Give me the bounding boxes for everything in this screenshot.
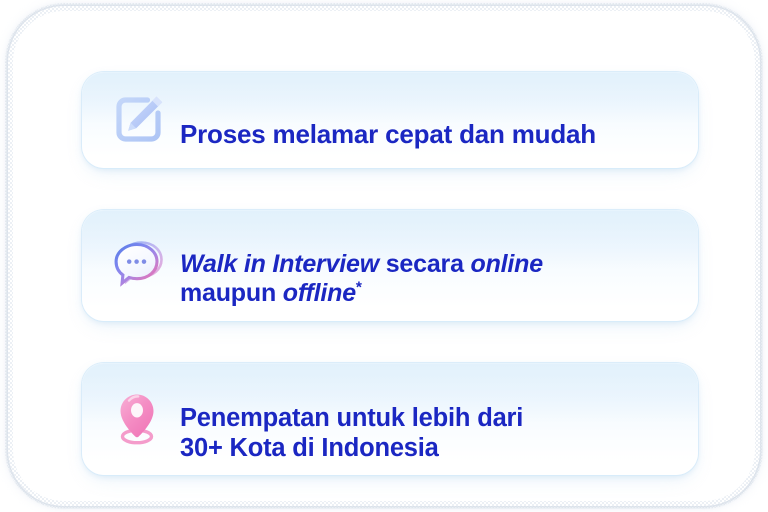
speech-bubble-dots-icon bbox=[104, 227, 174, 301]
feature-card-walk-in-interview[interactable]: Walk in Interview secara onlinemaupun of… bbox=[82, 210, 698, 321]
feature-card-proses-melamar[interactable]: Proses melamar cepat dan mudah bbox=[82, 72, 698, 168]
text-segment-walk-in-interview: Walk in Interview bbox=[180, 250, 379, 278]
pencil-square-icon bbox=[104, 82, 174, 156]
text-segment-line1: Penempatan untuk lebih dari bbox=[180, 404, 523, 432]
feature-card-list: Proses melamar cepat dan mudah bbox=[82, 72, 698, 475]
text-segment-offline: offline bbox=[283, 279, 356, 307]
text-segment-maupun: maupun bbox=[180, 279, 283, 307]
text-segment-online: online bbox=[471, 250, 543, 278]
text-segment-asterisk: * bbox=[356, 279, 362, 296]
text-segment: Proses melamar cepat dan mudah bbox=[180, 119, 596, 149]
text-segment-secara: secara bbox=[379, 250, 471, 278]
feature-card-penempatan[interactable]: Penempatan untuk lebih dari30+ Kota di I… bbox=[82, 363, 698, 475]
feature-card-label: Walk in Interview secara onlinemaupun of… bbox=[180, 220, 543, 309]
screenshot-root: Proses melamar cepat dan mudah bbox=[0, 0, 768, 512]
feature-card-label: Proses melamar cepat dan mudah bbox=[180, 88, 596, 149]
feature-card-label: Penempatan untuk lebih dari30+ Kota di I… bbox=[180, 373, 523, 463]
location-pin-icon bbox=[104, 381, 174, 455]
text-segment-line2: 30+ Kota di Indonesia bbox=[180, 434, 439, 462]
